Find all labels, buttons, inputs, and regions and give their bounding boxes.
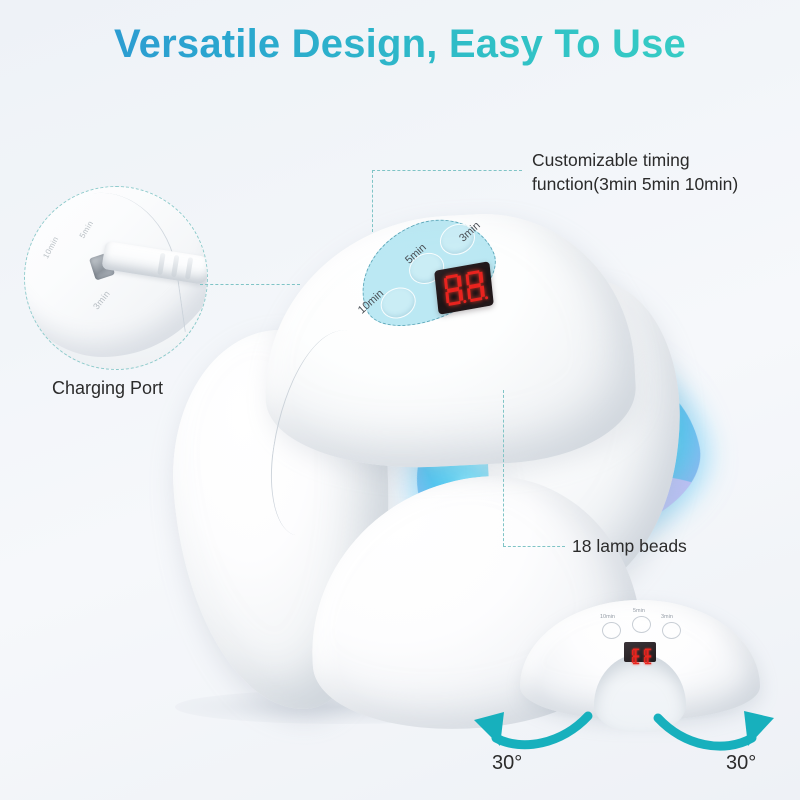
small-button-10min[interactable] <box>602 622 621 639</box>
page-title: Versatile Design, Easy To Use <box>0 22 800 67</box>
infographic-canvas: Versatile Design, Easy To Use 5min 10min… <box>0 0 800 800</box>
led-digit <box>443 273 464 306</box>
led-digit <box>631 648 636 656</box>
rotate-left-arrow-shaft <box>496 716 588 745</box>
small-led-display <box>624 642 656 662</box>
lamp-beads-callout-line-vertical <box>503 390 504 546</box>
timing-callout-line-vertical <box>372 170 373 232</box>
rotate-right-arrow-shaft <box>658 718 752 746</box>
small-button-5min[interactable] <box>632 616 651 633</box>
small-label-5min: 5min <box>633 608 645 614</box>
timing-callout-label: Customizable timing function(3min 5min 1… <box>532 148 738 196</box>
small-label-10min: 10min <box>600 614 615 620</box>
rotation-label-left: 30° <box>492 752 522 775</box>
timing-callout-line-horizontal <box>372 170 522 171</box>
small-label-3min: 3min <box>661 614 673 620</box>
rotate-right-arrow-head <box>744 711 774 746</box>
rotation-arrows-group: 30° 30° <box>470 690 800 770</box>
rotate-left-arrow-head <box>474 712 504 746</box>
small-button-3min[interactable] <box>662 622 681 639</box>
rotation-label-right: 30° <box>726 752 756 775</box>
led-digit <box>643 648 648 656</box>
led-digit <box>464 270 485 303</box>
lamp-beads-label: 18 lamp beads <box>572 534 687 558</box>
lamp-beads-callout-line-horizontal <box>503 546 565 547</box>
